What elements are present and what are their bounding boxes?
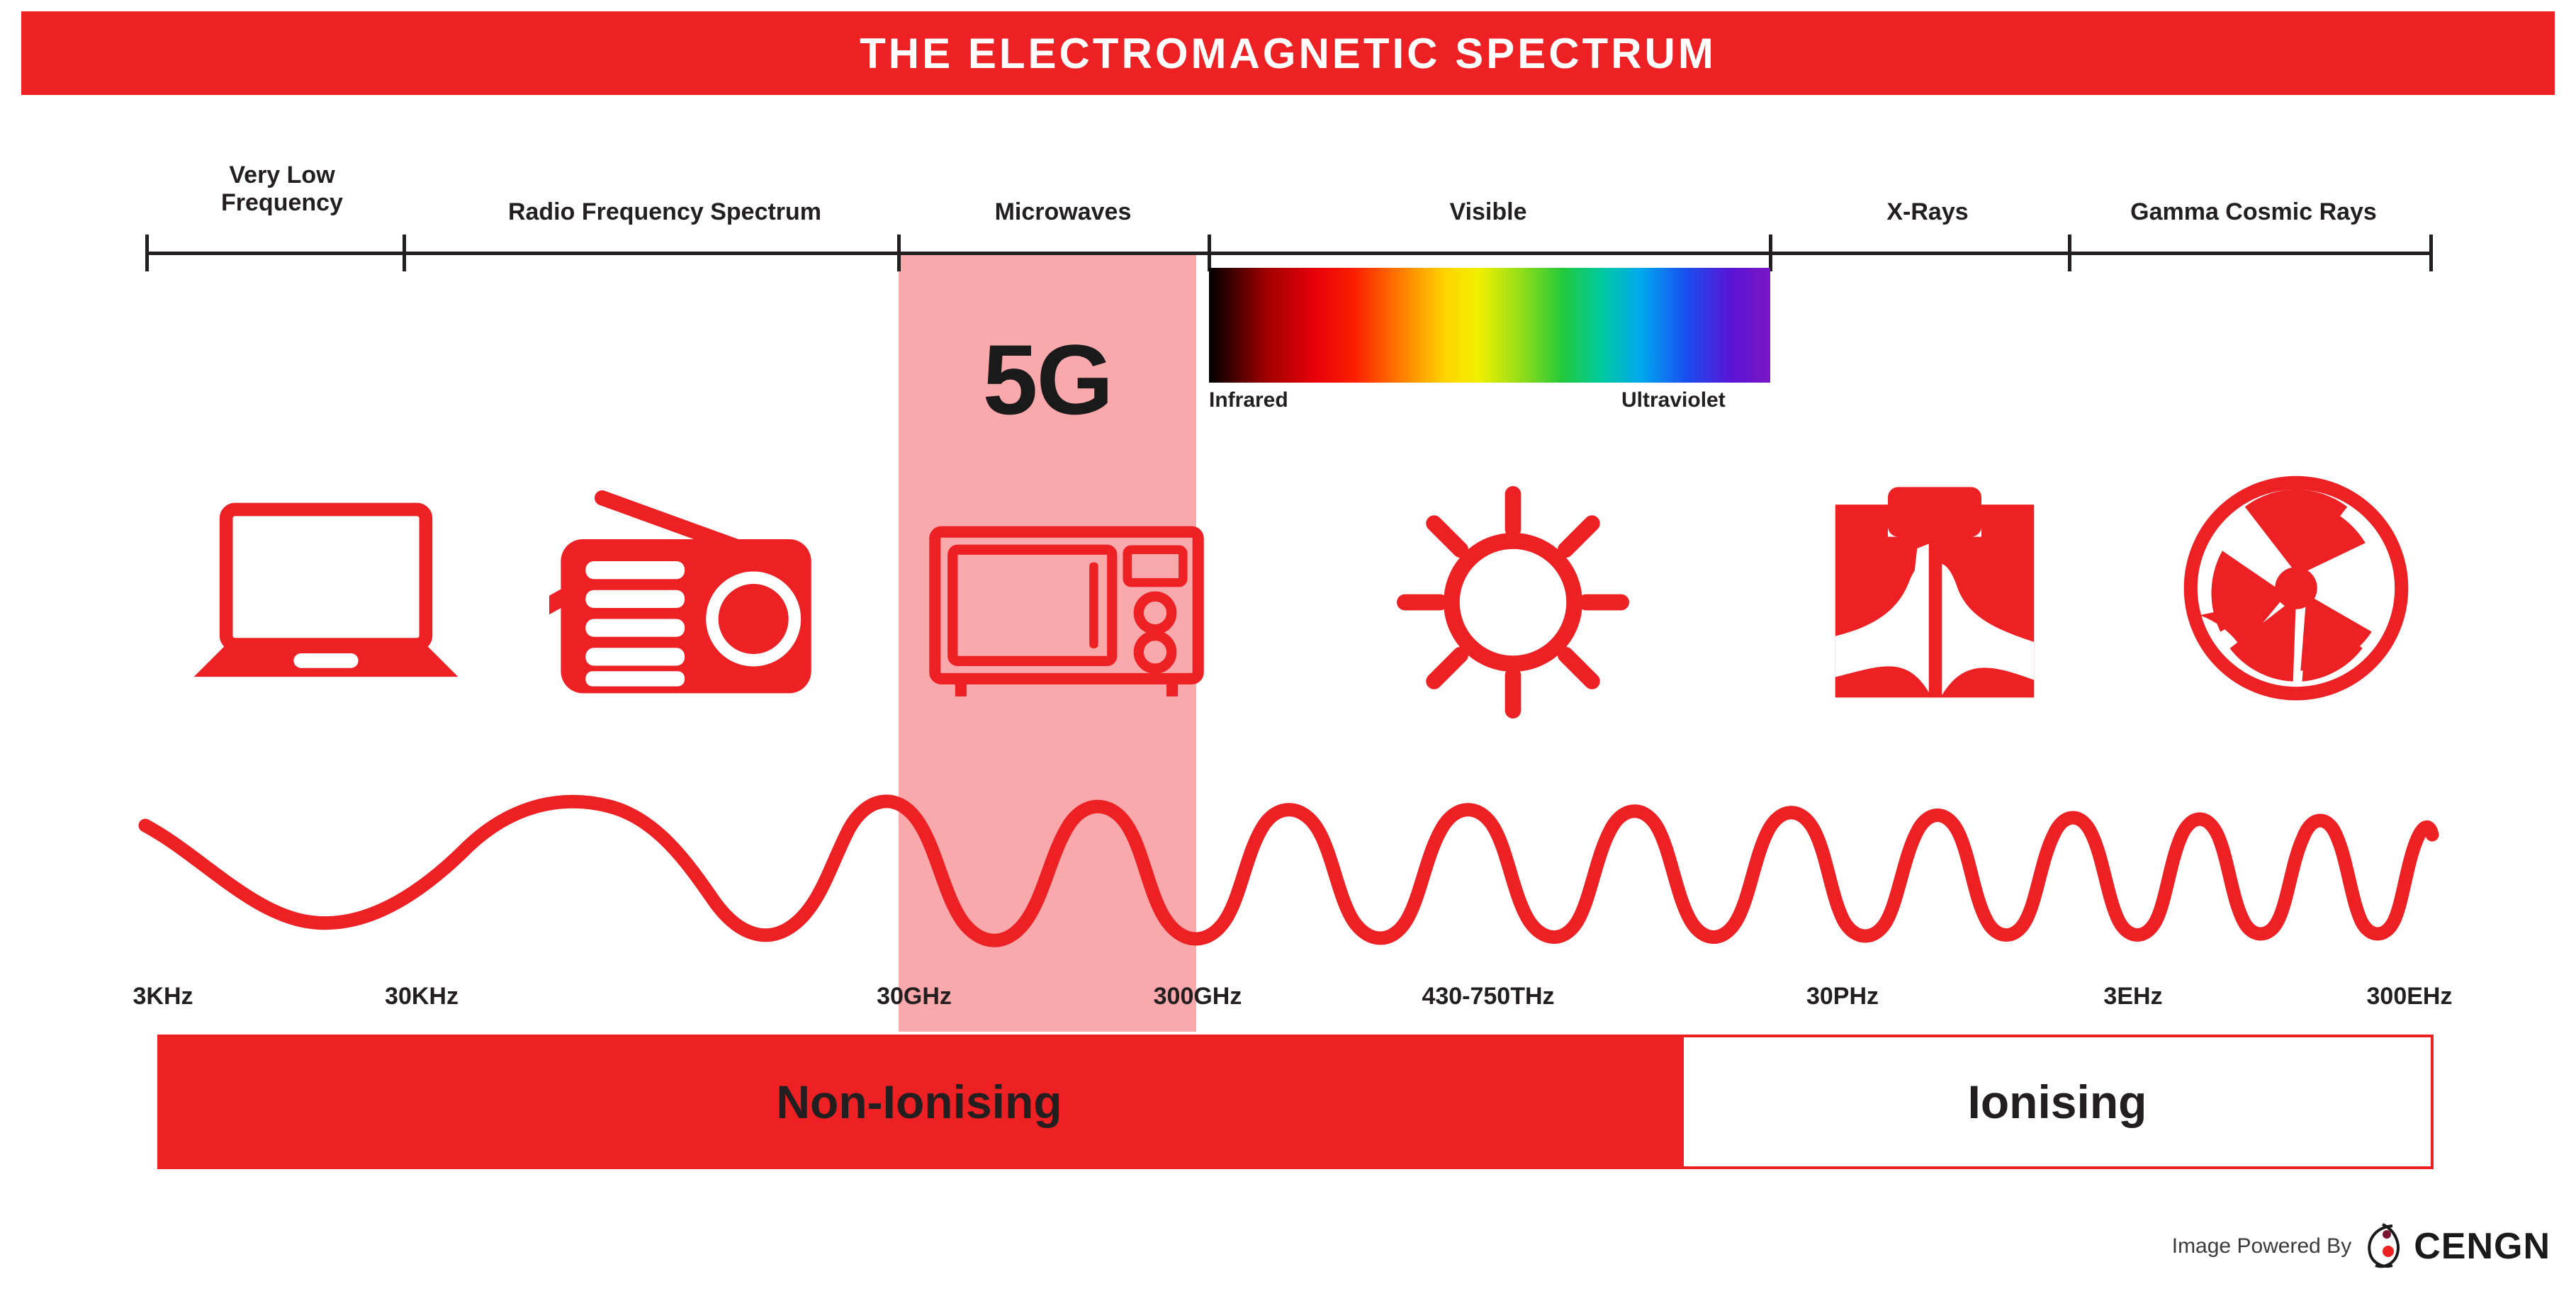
non-ionising-bar: Non-Ionising	[157, 1035, 1681, 1169]
freq-label-430-750thz: 430-750THz	[1375, 983, 1602, 1010]
five-g-label: 5G	[899, 322, 1196, 437]
credit-text: Image Powered By	[2172, 1234, 2351, 1258]
sun-icon	[1378, 485, 1648, 719]
band-label-radio-frequency-spectrum: Radio Frequency Spectrum	[445, 198, 884, 226]
axis-tick	[897, 235, 901, 271]
freq-label-30khz: 30KHz	[337, 983, 507, 1010]
axis-tick	[145, 235, 149, 271]
infographic-canvas: THE ELECTROMAGNETIC SPECTRUM Very Low Fr…	[0, 0, 2576, 1296]
axis-tick	[1208, 235, 1211, 271]
freq-label-300ghz: 300GHz	[1113, 983, 1283, 1010]
band-label-microwaves: Microwaves	[914, 198, 1212, 226]
microwave-icon	[921, 524, 1212, 701]
cengn-logo-icon	[2361, 1223, 2411, 1270]
radiation-icon	[2169, 468, 2424, 709]
infrared-label: Infrared	[1209, 388, 1288, 412]
freq-label-30phz: 30PHz	[1757, 983, 1928, 1010]
page-title: THE ELECTROMAGNETIC SPECTRUM	[860, 29, 1716, 78]
axis-tick	[403, 235, 406, 271]
freq-label-3ehz: 3EHz	[2048, 983, 2218, 1010]
footer: Image Powered By CENGN	[2172, 1223, 2550, 1270]
waveform-path	[145, 801, 2432, 940]
ionising-label: Ionising	[1968, 1075, 2147, 1129]
band-label-visible: Visible	[1339, 198, 1637, 226]
header-bar: THE ELECTROMAGNETIC SPECTRUM	[21, 11, 2555, 95]
axis-tick	[2068, 235, 2071, 271]
freq-label-300ehz: 300EHz	[2324, 983, 2495, 1010]
freq-label-3khz: 3KHz	[78, 983, 248, 1010]
band-label-gamma-cosmic-rays: Gamma Cosmic Rays	[2076, 198, 2431, 226]
xray-icon	[1811, 478, 2059, 712]
freq-label-30ghz: 30GHz	[829, 983, 999, 1010]
spectrum-axis-line	[145, 252, 2433, 255]
laptop-icon	[177, 489, 475, 694]
electromagnetic-waveform	[0, 751, 2576, 978]
band-label-x-rays: X-Rays	[1793, 198, 2062, 226]
axis-tick	[2429, 235, 2433, 271]
visible-spectrum-gradient	[1209, 268, 1770, 383]
radio-icon	[549, 468, 826, 701]
ionising-bar: Ionising	[1681, 1035, 2434, 1169]
brand-name: CENGN	[2414, 1225, 2550, 1268]
ultraviolet-label: Ultraviolet	[1621, 388, 1726, 412]
band-label-very-low-frequency: Very Low Frequency	[169, 162, 395, 218]
non-ionising-label: Non-Ionising	[776, 1075, 1062, 1129]
axis-tick	[1769, 235, 1772, 271]
